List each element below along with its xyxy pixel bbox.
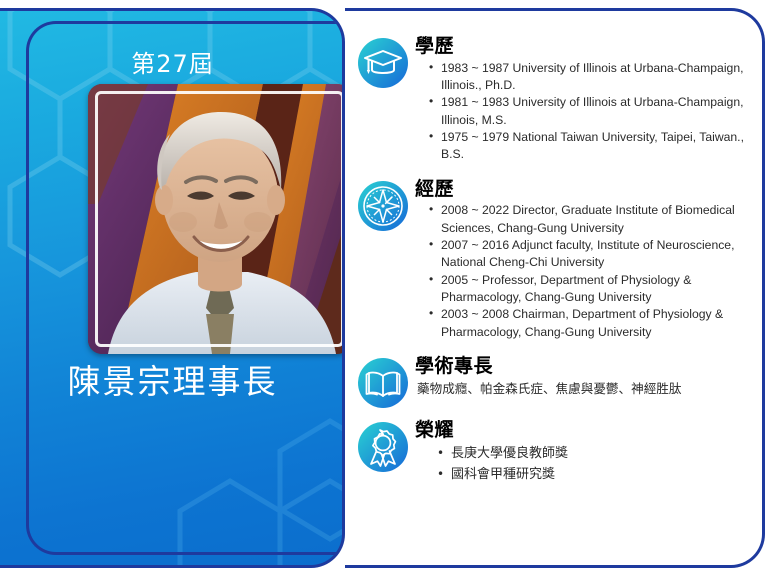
section-experience-body: 經歷 2008 ~ 2022 Director, Graduate Instit… bbox=[415, 174, 756, 341]
edition-title: 第27屆 bbox=[0, 44, 345, 79]
specialty-text: 藥物成癮、帕金森氏症、焦慮與憂鬱、神經胜肽 bbox=[415, 380, 756, 398]
award-ribbon-icon bbox=[357, 421, 409, 473]
section-title: 經歷 bbox=[415, 178, 756, 202]
left-profile-panel: 第27屆 bbox=[0, 8, 345, 568]
list-item: 長庚大學優良教師獎 bbox=[437, 444, 756, 465]
list-item: 1981 ~ 1983 University of Illinois at Ur… bbox=[431, 94, 756, 129]
compass-icon bbox=[357, 180, 409, 232]
experience-list: 2008 ~ 2022 Director, Graduate Institute… bbox=[415, 202, 756, 341]
person-name: 陳景宗理事長 bbox=[0, 355, 345, 403]
portrait-inner-border bbox=[95, 91, 344, 347]
graduation-cap-icon bbox=[357, 37, 409, 89]
right-detail-panel: 學歷 1983 ~ 1987 University of Illinois at… bbox=[345, 8, 765, 568]
section-education-body: 學歷 1983 ~ 1987 University of Illinois at… bbox=[415, 31, 756, 164]
section-title: 學歷 bbox=[415, 35, 756, 59]
portrait-photo bbox=[88, 84, 345, 354]
slide-canvas: 第27屆 bbox=[0, 0, 768, 576]
list-item: 國科會甲種研究獎 bbox=[437, 465, 756, 486]
education-list: 1983 ~ 1987 University of Illinois at Ur… bbox=[415, 60, 756, 164]
honors-list: 長庚大學優良教師獎 國科會甲種研究獎 bbox=[415, 444, 756, 486]
section-experience: 經歷 2008 ~ 2022 Director, Graduate Instit… bbox=[353, 174, 756, 341]
list-item: 2003 ~ 2008 Chairman, Department of Phys… bbox=[431, 306, 756, 341]
list-item: 2007 ~ 2016 Adjunct faculty, Institute o… bbox=[431, 237, 756, 272]
list-item: 1975 ~ 1979 National Taiwan University, … bbox=[431, 129, 756, 164]
section-specialty-body: 學術專長 藥物成癮、帕金森氏症、焦慮與憂鬱、神經胜肽 bbox=[415, 351, 756, 398]
section-honors: 榮耀 長庚大學優良教師獎 國科會甲種研究獎 bbox=[353, 415, 756, 485]
open-book-icon bbox=[357, 357, 409, 409]
section-education: 學歷 1983 ~ 1987 University of Illinois at… bbox=[353, 31, 756, 164]
section-honors-body: 榮耀 長庚大學優良教師獎 國科會甲種研究獎 bbox=[415, 415, 756, 485]
list-item: 2005 ~ Professor, Department of Physiolo… bbox=[431, 272, 756, 307]
list-item: 1983 ~ 1987 University of Illinois at Ur… bbox=[431, 60, 756, 95]
list-item: 2008 ~ 2022 Director, Graduate Institute… bbox=[431, 202, 756, 237]
section-title: 學術專長 bbox=[415, 355, 756, 379]
section-specialty: 學術專長 藥物成癮、帕金森氏症、焦慮與憂鬱、神經胜肽 bbox=[353, 351, 756, 409]
sections-container: 學歷 1983 ~ 1987 University of Illinois at… bbox=[353, 17, 756, 561]
section-title: 榮耀 bbox=[415, 419, 756, 443]
